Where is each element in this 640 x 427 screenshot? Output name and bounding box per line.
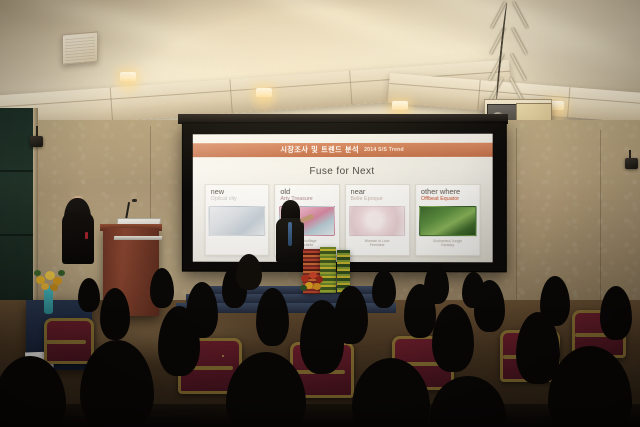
slide-title-korean: 시장조사 및 트렌드 분석 [280,145,359,155]
slide-panels: new Optical city old Arty Treasure Camou… [205,184,481,256]
conference-photo: 시장조사 및 트렌드 분석 2014 S/S Trend Fuse for Ne… [0,0,640,427]
projected-slide: 시장조사 및 트렌드 분석 2014 S/S Trend Fuse for Ne… [193,134,493,263]
panel-subtitle: Offbeat Equator [421,196,459,203]
panel-word: old [280,188,290,196]
panel-subtitle: Belle Epoque [350,196,382,203]
panel-caption: Woman in Love Feminine [350,239,404,249]
foreground-shadow [0,404,640,427]
panel-word: near [350,188,365,196]
laptop-keyboard [114,236,162,240]
slide-panel-other-where: other where Offbeat Equator Enchanted Ju… [415,184,481,256]
panel-image-optical-city [209,205,265,235]
audience-member [236,254,262,290]
audience-member [150,268,174,308]
microphone-head [132,199,137,202]
yellow-bouquet [34,268,66,292]
slide-panel-new: new Optical city [205,184,270,256]
ceiling-speaker-box [62,31,98,64]
slide-title-english: 2014 S/S Trend [364,147,404,153]
slide-title-bar: 시장조사 및 트렌드 분석 2014 S/S Trend [193,143,493,157]
panel-subtitle: Optical city [211,196,237,203]
panel-image-offbeat-equator [419,206,476,236]
panel-image-belle-epoque [349,206,405,236]
red-floral-arrangement [300,272,326,294]
wall-speaker-left [30,136,43,147]
panel-word: new [211,188,224,196]
wall-speaker-right [625,158,638,169]
audience-member [78,278,100,312]
audience-member [372,270,396,308]
slide-panel-near: near Belle Epoque Woman in Love Feminine [344,184,409,256]
chair-rail [46,340,86,344]
slide-heading: Fuse for Next [193,166,493,177]
panel-caption: Enchanted Jungle Fantasy [420,239,475,249]
panel-word: other where [421,188,460,196]
